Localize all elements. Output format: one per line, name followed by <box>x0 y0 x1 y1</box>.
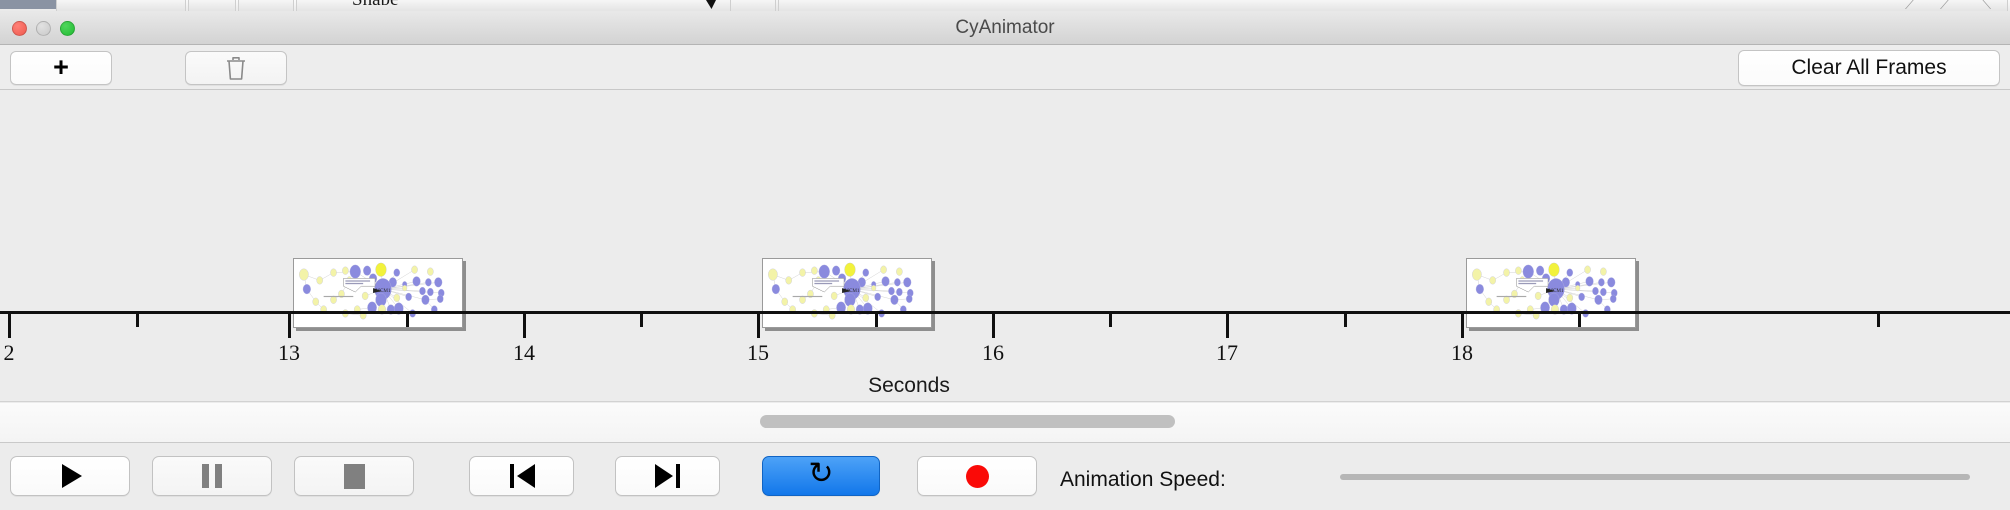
axis-tick-minor <box>1344 314 1347 327</box>
background-window-arrow-icon: ⟋ <box>1940 0 1949 11</box>
axis-tick-minor <box>136 314 139 327</box>
axis-tick-major <box>1226 314 1229 338</box>
axis-tick-label: 17 <box>1216 340 1238 366</box>
axis-tick-major <box>992 314 995 338</box>
clear-all-frames-label: Clear All Frames <box>1791 56 1946 80</box>
record-icon <box>966 465 989 488</box>
play-button[interactable] <box>10 456 130 496</box>
cyanimator-window: Shape ⟋ ⟋ ⟍ CyAnimator + Clear All Frame… <box>0 0 2010 510</box>
axis-tick-major <box>757 314 760 338</box>
axis-tick-major <box>523 314 526 338</box>
record-button[interactable] <box>917 456 1037 496</box>
axis-tick-label: 13 <box>278 340 300 366</box>
frame-thumbnail-2[interactable]: MCM1 <box>762 258 932 328</box>
play-icon <box>62 464 82 488</box>
background-window-selected-tab <box>0 0 56 9</box>
loop-icon: ↻ <box>808 459 833 489</box>
skip-to-start-button[interactable] <box>469 456 574 496</box>
axis-tick-major <box>8 314 11 338</box>
window-titlebar[interactable]: CyAnimator <box>0 11 2010 45</box>
frame-thumbnail-1[interactable]: MCM1 <box>293 258 463 328</box>
svg-text:MCM1: MCM1 <box>375 288 391 294</box>
axis-tick-minor <box>875 314 878 327</box>
background-window-chunk <box>188 0 236 11</box>
timeline-panel[interactable]: MCM1MCM1MCM1 2131415161718 Seconds <box>0 90 2010 402</box>
playback-controls-bar: ↻ Animation Speed: <box>0 444 2010 510</box>
axis-tick-label: 15 <box>747 340 769 366</box>
svg-text:MCM1: MCM1 <box>844 288 860 294</box>
axis-tick-label: 14 <box>513 340 535 366</box>
animation-speed-slider[interactable] <box>1340 474 1970 480</box>
background-window-arrow-icon: ⟍ <box>1982 0 1991 11</box>
animation-speed-label: Animation Speed: <box>1060 468 1226 492</box>
plus-icon: + <box>53 54 69 81</box>
loop-button[interactable]: ↻ <box>762 456 880 496</box>
axis-tick-minor <box>1877 314 1880 327</box>
timeline-scrollbar-thumb[interactable] <box>760 415 1175 428</box>
background-window-arrow-icon: ⟋ <box>1905 0 1914 11</box>
pause-button[interactable] <box>152 456 272 496</box>
background-window-chunk <box>778 0 2008 11</box>
axis-tick-minor <box>1578 314 1581 327</box>
timeline-axis-line <box>0 311 2010 314</box>
background-window-chunk <box>238 0 294 11</box>
axis-title: Seconds <box>0 374 1818 398</box>
axis-tick-label: 18 <box>1451 340 1473 366</box>
axis-tick-major <box>1461 314 1464 338</box>
background-window-chunk <box>730 0 776 11</box>
pause-icon <box>202 464 222 488</box>
stop-icon <box>344 464 365 489</box>
delete-frame-button[interactable] <box>185 51 287 85</box>
axis-tick-minor <box>406 314 409 327</box>
axis-tick-minor <box>640 314 643 327</box>
trash-icon <box>225 55 247 81</box>
clear-all-frames-button[interactable]: Clear All Frames <box>1738 50 2000 86</box>
skip-to-end-icon <box>655 464 681 488</box>
timeline-scrollbar[interactable] <box>0 403 2010 443</box>
background-window-chunk <box>56 0 186 11</box>
axis-tick-label: 2 <box>4 340 15 366</box>
add-frame-button[interactable]: + <box>10 51 112 85</box>
stop-button[interactable] <box>294 456 414 496</box>
window-title: CyAnimator <box>0 11 2010 45</box>
skip-to-end-button[interactable] <box>615 456 720 496</box>
axis-tick-minor <box>1109 314 1112 327</box>
frame-thumbnail-3[interactable]: MCM1 <box>1466 258 1636 328</box>
axis-tick-major <box>288 314 291 338</box>
axis-tick-label: 16 <box>982 340 1004 366</box>
skip-to-start-icon <box>509 464 535 488</box>
background-window-text: Shape <box>352 0 398 5</box>
frames-toolbar: + Clear All Frames <box>0 45 2010 90</box>
background-window-strip: Shape ⟋ ⟋ ⟍ <box>0 0 2010 11</box>
svg-text:MCM1: MCM1 <box>1548 288 1564 294</box>
